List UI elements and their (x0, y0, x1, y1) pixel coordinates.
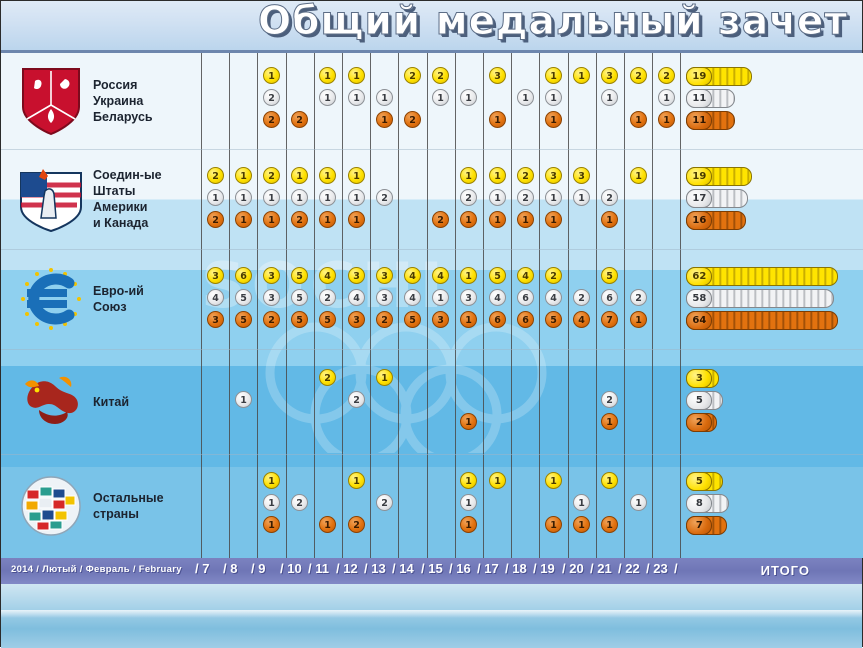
total-count-bronze: 16 (686, 211, 712, 230)
medal-cell-bronze: 1 (460, 413, 477, 430)
footer-day-23: / 23 (646, 561, 668, 576)
medal-cell-bronze: 3 (207, 311, 224, 328)
footer-day-22: / 22 (618, 561, 640, 576)
medal-cell-silver: 3 (376, 289, 393, 306)
medal-cell-bronze: 2 (207, 211, 224, 228)
water-decoration (1, 584, 862, 648)
team-band-divider (1, 349, 863, 350)
footer-total-label: ИТОГО (761, 563, 810, 578)
medal-cell-bronze: 2 (404, 111, 421, 128)
column-divider (455, 53, 456, 558)
medal-cell-gold: 3 (263, 267, 280, 284)
total-count-silver: 11 (686, 89, 712, 108)
medal-cell-silver: 4 (207, 289, 224, 306)
footer-day-21: / 21 (590, 561, 612, 576)
team-name-line: Соедин-ые (93, 167, 162, 183)
column-divider (624, 53, 625, 558)
team-row: Соедин-ыеШтатыАмерикии Канада (1, 149, 201, 249)
total-count-gold: 62 (686, 267, 712, 286)
column-divider (286, 53, 287, 558)
medal-cell-silver: 1 (545, 189, 562, 206)
medal-cell-silver: 1 (207, 189, 224, 206)
total-count-bronze: 64 (686, 311, 712, 330)
medal-cell-bronze: 5 (235, 311, 252, 328)
medal-cell-silver: 3 (263, 289, 280, 306)
footer-day-7: / 7 (195, 561, 209, 576)
team-name-line: и Канада (93, 215, 162, 231)
page-title: Общий медальный зачет (258, 1, 848, 44)
medal-cell-silver: 5 (291, 289, 308, 306)
medal-cell-silver: 2 (630, 289, 647, 306)
medal-cell-bronze: 1 (489, 111, 506, 128)
column-divider (314, 53, 315, 558)
team-row: РоссияУкраинаБеларусь (1, 53, 201, 149)
medal-cell-gold: 6 (235, 267, 252, 284)
medal-cell-bronze: 2 (376, 311, 393, 328)
medal-cell-bronze: 6 (517, 311, 534, 328)
medal-cell-gold: 2 (545, 267, 562, 284)
column-divider (539, 53, 540, 558)
team-name-line: Остальные (93, 490, 164, 506)
column-divider (398, 53, 399, 558)
medal-cell-gold: 4 (517, 267, 534, 284)
medal-cell-gold: 2 (630, 67, 647, 84)
team-name-line: Китай (93, 394, 129, 410)
medal-cell-bronze: 1 (545, 111, 562, 128)
team-row: Остальныестраны (1, 454, 201, 558)
total-count-gold: 19 (686, 67, 712, 86)
medal-cell-bronze: 2 (432, 211, 449, 228)
footer-day-10: / 10 (280, 561, 302, 576)
medal-cell-bronze: 1 (348, 211, 365, 228)
medal-cell-silver: 1 (601, 89, 618, 106)
column-divider (201, 53, 202, 558)
medal-cell-silver: 1 (376, 89, 393, 106)
medal-cell-gold: 3 (545, 167, 562, 184)
team-row: Китай (1, 349, 201, 454)
medal-cell-silver: 2 (348, 391, 365, 408)
medal-cell-bronze: 1 (319, 516, 336, 533)
team-name-label: Соедин-ыеШтатыАмерикии Канада (93, 167, 162, 231)
footer-day-16: / 16 (449, 561, 471, 576)
medal-cell-bronze: 5 (291, 311, 308, 328)
medal-cell-gold: 5 (601, 267, 618, 284)
medal-cell-gold: 4 (319, 267, 336, 284)
medal-cell-silver: 1 (545, 89, 562, 106)
medal-cell-bronze: 1 (460, 311, 477, 328)
medal-cell-bronze: 1 (489, 211, 506, 228)
footer-day-8: / 8 (223, 561, 237, 576)
medal-cell-gold: 1 (545, 67, 562, 84)
medal-cell-gold: 1 (460, 167, 477, 184)
medal-cell-bronze: 1 (658, 111, 675, 128)
medal-cell-gold: 1 (460, 267, 477, 284)
medal-cell-gold: 1 (319, 167, 336, 184)
team-name-line: страны (93, 506, 164, 522)
medal-cell-silver: 3 (460, 289, 477, 306)
team-name-line: Россия (93, 77, 153, 93)
column-divider (342, 53, 343, 558)
medal-cell-gold: 2 (404, 67, 421, 84)
medal-cell-gold: 1 (319, 67, 336, 84)
infographic-page: Общий медальный зачет SOCHI РоссияУкраин… (0, 0, 863, 647)
medal-cell-silver: 1 (573, 494, 590, 511)
footer-day-13: / 13 (364, 561, 386, 576)
medal-cell-bronze: 1 (235, 211, 252, 228)
medal-cell-bronze: 2 (291, 211, 308, 228)
medal-cell-silver: 1 (658, 89, 675, 106)
medal-cell-gold: 5 (489, 267, 506, 284)
medal-cell-gold: 1 (263, 67, 280, 84)
medal-cell-bronze: 5 (404, 311, 421, 328)
medal-cell-silver: 2 (376, 494, 393, 511)
team-band-divider (1, 454, 863, 455)
medal-cell-bronze: 1 (517, 211, 534, 228)
medal-cell-bronze: 1 (573, 516, 590, 533)
medal-cell-bronze: 5 (319, 311, 336, 328)
medal-cell-gold: 3 (573, 167, 590, 184)
medal-cell-silver: 2 (291, 494, 308, 511)
medal-cell-bronze: 1 (460, 516, 477, 533)
medal-cell-silver: 4 (489, 289, 506, 306)
footer-day-18: / 18 (505, 561, 527, 576)
medal-cell-bronze: 6 (489, 311, 506, 328)
medal-cell-silver: 6 (601, 289, 618, 306)
footer-day-20: / 20 (562, 561, 584, 576)
column-divider (568, 53, 569, 558)
team-name-line: Америки (93, 199, 162, 215)
medal-cell-gold: 1 (348, 167, 365, 184)
total-count-gold: 19 (686, 167, 712, 186)
medal-cell-bronze: 1 (460, 211, 477, 228)
medal-cell-bronze: 3 (348, 311, 365, 328)
medal-cell-silver: 1 (348, 89, 365, 106)
medal-cell-silver: 2 (601, 189, 618, 206)
medal-cell-silver: 1 (432, 289, 449, 306)
column-divider (229, 53, 230, 558)
footer-day-14: / 14 (392, 561, 414, 576)
medal-cell-bronze: 2 (263, 311, 280, 328)
team-name-line: Союз (93, 299, 144, 315)
medal-cell-silver: 2 (601, 391, 618, 408)
medal-cell-gold: 2 (319, 369, 336, 386)
medal-cell-silver: 1 (489, 189, 506, 206)
footer-day-11: / 11 (308, 561, 329, 576)
medal-cell-gold: 1 (235, 167, 252, 184)
medal-cell-gold: 1 (291, 167, 308, 184)
medal-cell-silver: 1 (235, 189, 252, 206)
footer-bar: 2014 / Лютый / Февраль / February ИТОГО … (1, 558, 862, 584)
footer-day-9: / 9 (251, 561, 265, 576)
flag-globe-icon (15, 470, 87, 542)
total-count-gold: 3 (686, 369, 712, 388)
total-count-silver: 58 (686, 289, 712, 308)
medal-cell-bronze: 4 (573, 311, 590, 328)
medal-cell-bronze: 1 (601, 413, 618, 430)
team-name-label: Китай (93, 394, 129, 410)
medal-cell-gold: 3 (489, 67, 506, 84)
team-column: РоссияУкраинаБеларусьСоедин-ыеШтатыАмери… (1, 53, 201, 558)
column-divider (427, 53, 428, 558)
medal-cell-bronze: 3 (432, 311, 449, 328)
team-name-label: Евро-ийСоюз (93, 283, 144, 315)
medal-cell-silver: 5 (235, 289, 252, 306)
medal-cell-silver: 1 (319, 89, 336, 106)
statue-of-liberty-shield-icon (15, 163, 87, 235)
medal-cell-silver: 2 (517, 189, 534, 206)
medal-board: SOCHI РоссияУкраинаБеларусьСоедин-ыеШтат… (1, 53, 863, 558)
medal-cell-gold: 1 (263, 472, 280, 489)
medal-cell-silver: 1 (263, 494, 280, 511)
medal-cell-gold: 2 (432, 67, 449, 84)
column-divider (257, 53, 258, 558)
medal-cell-silver: 1 (460, 89, 477, 106)
chinese-dragon-icon (15, 366, 87, 438)
medal-cell-silver: 1 (319, 189, 336, 206)
medal-cell-gold: 4 (404, 267, 421, 284)
total-count-silver: 5 (686, 391, 712, 410)
column-divider (596, 53, 597, 558)
medal-cell-silver: 4 (404, 289, 421, 306)
footer-date-label: 2014 / Лютый / Февраль / February (11, 564, 182, 575)
team-name-line: Украина (93, 93, 153, 109)
total-count-silver: 8 (686, 494, 712, 513)
medal-cell-silver: 2 (376, 189, 393, 206)
team-band-divider (1, 149, 863, 150)
medal-cell-gold: 1 (489, 472, 506, 489)
total-count-bronze: 11 (686, 111, 712, 130)
medal-cell-gold: 1 (348, 67, 365, 84)
medal-cell-gold: 3 (207, 267, 224, 284)
header-banner: Общий медальный зачет (1, 1, 862, 53)
column-divider (680, 53, 681, 558)
medal-cell-bronze: 1 (545, 516, 562, 533)
medal-cell-silver: 1 (460, 494, 477, 511)
column-divider (511, 53, 512, 558)
medal-cell-silver: 1 (348, 189, 365, 206)
medal-cell-gold: 1 (601, 472, 618, 489)
medal-cell-bronze: 1 (376, 111, 393, 128)
medal-cell-silver: 4 (545, 289, 562, 306)
medal-cell-bronze: 1 (319, 211, 336, 228)
total-count-gold: 5 (686, 472, 712, 491)
medal-cell-gold: 1 (545, 472, 562, 489)
footer-day-trailing-slash: / (674, 561, 678, 576)
total-count-bronze: 2 (686, 413, 712, 432)
medal-cell-bronze: 1 (263, 516, 280, 533)
medal-cell-silver: 1 (263, 189, 280, 206)
medal-cell-silver: 1 (630, 494, 647, 511)
medal-cell-gold: 1 (460, 472, 477, 489)
footer-day-12: / 12 (336, 561, 358, 576)
medal-cell-gold: 1 (489, 167, 506, 184)
total-count-bronze: 7 (686, 516, 712, 535)
medal-cell-gold: 1 (573, 67, 590, 84)
footer-day-19: / 19 (533, 561, 555, 576)
medal-cell-silver: 1 (573, 189, 590, 206)
medal-cell-bronze: 2 (291, 111, 308, 128)
team-band-divider (1, 249, 863, 250)
medal-cell-gold: 2 (658, 67, 675, 84)
column-divider (652, 53, 653, 558)
team-name-line: Евро-ий (93, 283, 144, 299)
medal-cell-bronze: 1 (263, 211, 280, 228)
medal-cell-gold: 1 (376, 369, 393, 386)
medal-cell-gold: 1 (348, 472, 365, 489)
shield-russia-ukraine-belarus-icon (15, 65, 87, 137)
medal-cell-silver: 1 (517, 89, 534, 106)
medal-cell-gold: 3 (348, 267, 365, 284)
medal-cell-bronze: 1 (545, 211, 562, 228)
medal-cell-gold: 3 (601, 67, 618, 84)
medal-cell-bronze: 5 (545, 311, 562, 328)
medal-cell-bronze: 1 (601, 211, 618, 228)
team-row: Евро-ийСоюз (1, 249, 201, 349)
column-divider (483, 53, 484, 558)
medal-cell-bronze: 1 (630, 311, 647, 328)
footer-day-15: / 15 (421, 561, 443, 576)
medal-cell-silver: 6 (517, 289, 534, 306)
medal-cell-silver: 1 (291, 189, 308, 206)
column-divider (370, 53, 371, 558)
medal-cell-gold: 1 (630, 167, 647, 184)
medal-cell-gold: 2 (263, 167, 280, 184)
team-name-label: РоссияУкраинаБеларусь (93, 77, 153, 125)
medal-cell-bronze: 1 (630, 111, 647, 128)
medal-cell-gold: 2 (517, 167, 534, 184)
team-name-line: Штаты (93, 183, 162, 199)
medal-cell-silver: 2 (319, 289, 336, 306)
footer-day-17: / 17 (477, 561, 499, 576)
medal-cell-gold: 2 (207, 167, 224, 184)
medal-cell-bronze: 7 (601, 311, 618, 328)
team-name-label: Остальныестраны (93, 490, 164, 522)
medal-cell-silver: 1 (235, 391, 252, 408)
medal-cell-gold: 4 (432, 267, 449, 284)
team-name-line: Беларусь (93, 109, 153, 125)
total-count-silver: 17 (686, 189, 712, 208)
medal-cell-silver: 2 (460, 189, 477, 206)
medal-cell-gold: 5 (291, 267, 308, 284)
medal-cell-bronze: 2 (263, 111, 280, 128)
medal-cell-bronze: 2 (348, 516, 365, 533)
euro-symbol-icon (15, 263, 87, 335)
medal-cell-silver: 2 (573, 289, 590, 306)
medal-cell-silver: 2 (263, 89, 280, 106)
medal-cell-bronze: 1 (601, 516, 618, 533)
medal-cell-silver: 1 (432, 89, 449, 106)
medal-cell-silver: 4 (348, 289, 365, 306)
medal-cell-gold: 3 (376, 267, 393, 284)
